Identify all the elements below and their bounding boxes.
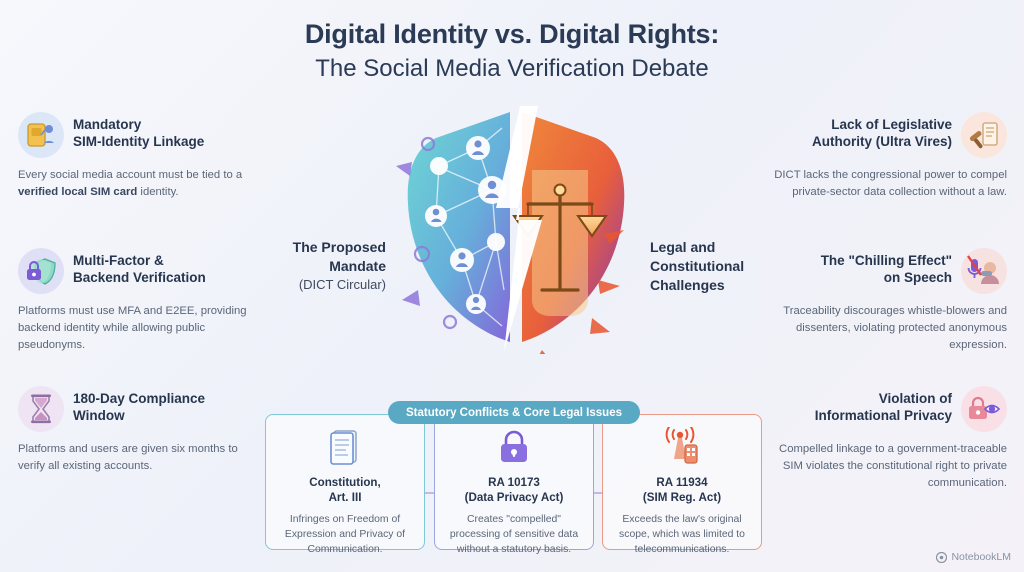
- center-label-proposed-mandate: The Proposed Mandate (DICT Circular): [258, 238, 386, 293]
- item-body: Platforms must use MFA and E2EE, providi…: [18, 303, 263, 354]
- lock-eye-icon: [961, 386, 1007, 432]
- title-line-1: Lack of Legislative: [762, 116, 952, 133]
- page-title: Digital Identity vs. Digital Rights: The…: [0, 18, 1024, 84]
- title-line-1: Mandatory: [73, 116, 263, 133]
- item-body: Every social media account must be tied …: [18, 167, 263, 201]
- item-title: Mandatory SIM-Identity Linkage: [73, 112, 263, 151]
- item-lack-of-legislative-authority: Lack of Legislative Authority (Ultra Vir…: [762, 112, 1007, 201]
- muted-microphone-icon: [961, 248, 1007, 294]
- item-mandatory-sim-linkage: Mandatory SIM-Identity Linkage Every soc…: [18, 112, 263, 201]
- network-blob-left: [408, 112, 510, 342]
- body-emphasis: verified local SIM card: [18, 186, 137, 198]
- item-title: 180-Day Compliance Window: [73, 386, 263, 425]
- item-header: Mandatory SIM-Identity Linkage: [18, 112, 263, 158]
- card-title-main: Constitution,: [309, 476, 380, 489]
- item-violation-of-informational-privacy: Violation of Informational Privacy Compe…: [762, 386, 1007, 492]
- card-title-main: RA 11934: [656, 476, 707, 489]
- item-body: Platforms and users are given six months…: [18, 441, 263, 475]
- item-chilling-effect-on-speech: The "Chilling Effect" on Speech Traceabi…: [762, 248, 1007, 354]
- sim-card-icon: [18, 112, 64, 158]
- card-title: Constitution, Art. III: [276, 475, 414, 505]
- title-line-1: Multi-Factor &: [73, 252, 263, 269]
- card-body: Infringes on Freedom of Expression and P…: [276, 512, 414, 557]
- card-ra-10173-data-privacy-act: RA 10173 (Data Privacy Act) Creates "com…: [434, 414, 594, 550]
- body-pre: Every social media account must be tied …: [18, 169, 242, 181]
- item-title: Multi-Factor & Backend Verification: [73, 248, 263, 287]
- scroll-document-icon: [323, 425, 367, 469]
- item-title: Violation of Informational Privacy: [762, 386, 952, 425]
- card-title: RA 11934 (SIM Reg. Act): [613, 475, 751, 505]
- item-body: Traceability discourages whistle-blowers…: [762, 303, 1007, 354]
- title-line-2: Authority (Ultra Vires): [762, 133, 952, 150]
- title-line-2: on Speech: [762, 269, 952, 286]
- padlock-shield-icon: [18, 248, 64, 294]
- card-title: RA 10173 (Data Privacy Act): [445, 475, 583, 505]
- item-header: Violation of Informational Privacy: [762, 386, 1007, 432]
- title-line-1: Violation of: [762, 390, 952, 407]
- statutory-conflicts-banner: Statutory Conflicts & Core Legal Issues: [388, 401, 640, 424]
- item-180-day-compliance-window: 180-Day Compliance Window Platforms and …: [18, 386, 263, 475]
- card-connector-right: [594, 492, 602, 494]
- central-split-shield-graphic: [392, 104, 642, 354]
- watermark-label: NotebookLM: [951, 551, 1011, 563]
- card-ra-11934-sim-reg-act: RA 11934 (SIM Reg. Act) Exceeds the law'…: [602, 414, 762, 550]
- title-subtitle: The Social Media Verification Debate: [0, 53, 1024, 84]
- title-main: Digital Identity vs. Digital Rights:: [0, 18, 1024, 51]
- mandate-line1: The Proposed: [258, 238, 386, 257]
- card-title-main: RA 10173: [488, 476, 540, 489]
- item-body: Compelled linkage to a government-tracea…: [762, 441, 1007, 492]
- item-multifactor-backend-verification: Multi-Factor & Backend Verification Plat…: [18, 248, 263, 354]
- card-title-sub: Art. III: [276, 490, 414, 505]
- item-title: Lack of Legislative Authority (Ultra Vir…: [762, 112, 952, 151]
- cell-tower-icon: [660, 425, 704, 469]
- item-title: The "Chilling Effect" on Speech: [762, 248, 952, 287]
- hourglass-icon: [18, 386, 64, 432]
- item-header: 180-Day Compliance Window: [18, 386, 263, 432]
- item-body: DICT lacks the congressional power to co…: [762, 167, 1007, 201]
- item-header: Multi-Factor & Backend Verification: [18, 248, 263, 294]
- mandate-line2: Mandate: [258, 257, 386, 276]
- infographic-canvas: Digital Identity vs. Digital Rights: The…: [0, 0, 1024, 572]
- card-constitution-art-iii: Constitution, Art. III Infringes on Free…: [265, 414, 425, 550]
- notebooklm-watermark: NotebookLM: [936, 551, 1011, 563]
- title-line-2: Informational Privacy: [762, 407, 952, 424]
- card-body: Exceeds the law's original scope, which …: [613, 512, 751, 557]
- body-post: identity.: [137, 186, 178, 198]
- title-line-2: Backend Verification: [73, 269, 263, 286]
- title-line-1: The "Chilling Effect": [762, 252, 952, 269]
- card-title-sub: (Data Privacy Act): [445, 490, 583, 505]
- mandate-sublabel: (DICT Circular): [258, 276, 386, 294]
- padlock-icon: [492, 425, 536, 469]
- title-line-2: Window: [73, 407, 263, 424]
- item-header: The "Chilling Effect" on Speech: [762, 248, 1007, 294]
- title-line-2: SIM-Identity Linkage: [73, 133, 263, 150]
- card-connector-left: [425, 492, 434, 494]
- gavel-document-icon: [961, 112, 1007, 158]
- card-title-sub: (SIM Reg. Act): [613, 490, 751, 505]
- card-body: Creates "compelled" processing of sensit…: [445, 512, 583, 557]
- title-line-1: 180-Day Compliance: [73, 390, 263, 407]
- item-header: Lack of Legislative Authority (Ultra Vir…: [762, 112, 1007, 158]
- notebooklm-logo-icon: [936, 552, 947, 563]
